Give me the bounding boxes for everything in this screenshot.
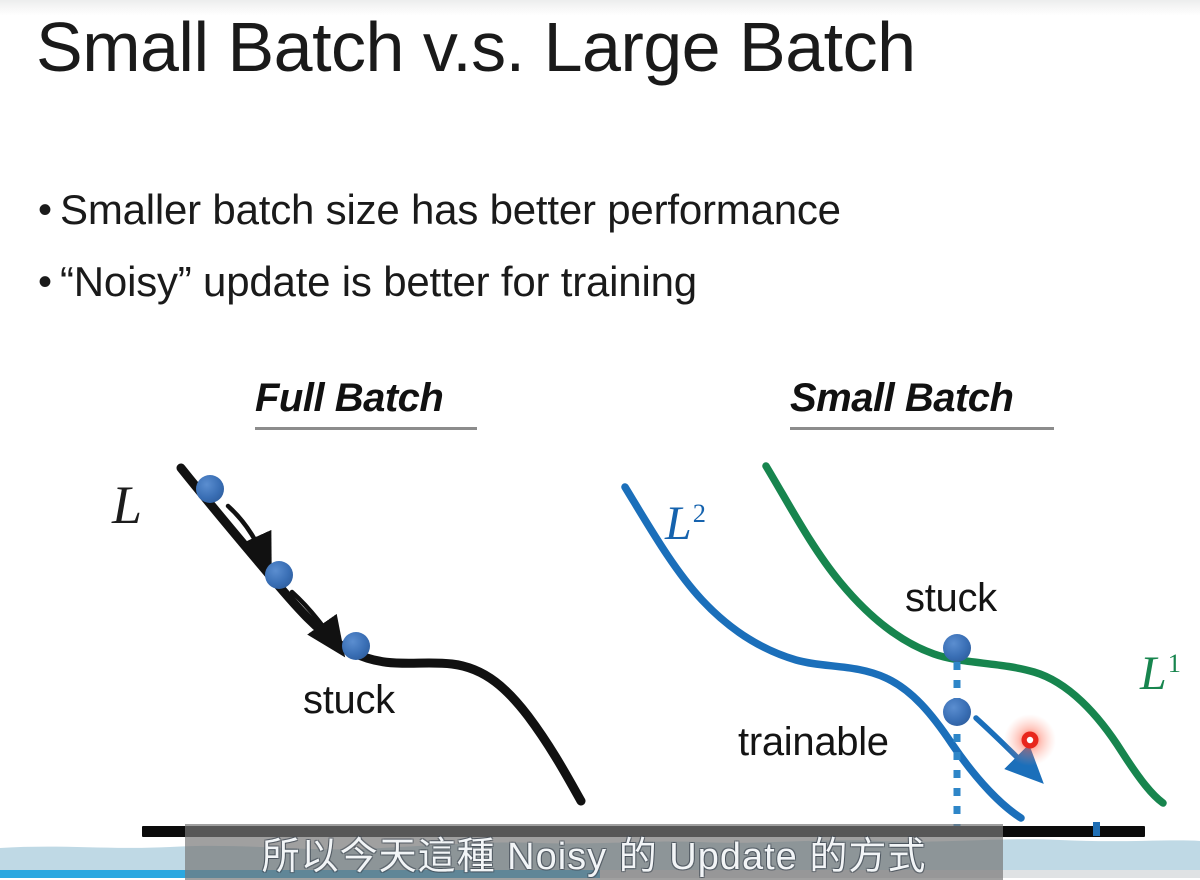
curve-label-L2-base: L [665,497,692,550]
curve-label-L2: L2 [665,500,706,548]
annotation-trainable: trainable [738,722,889,762]
video-frame: Small Batch v.s. Large Batch • Smaller b… [0,0,1200,880]
curve-label-L1: L1 [1140,650,1181,698]
curve-label-L-text: L [112,475,142,535]
true-minimum-marker [1004,714,1056,766]
parameter-ball-stuck [943,634,971,662]
playhead-cursor-icon[interactable] [1093,822,1100,836]
curve-label-L1-base: L [1140,647,1167,700]
full-batch-panel-graphics [181,468,581,801]
curve-label-L2-superscript: 2 [693,498,706,528]
curve-label-L: L [112,478,142,532]
subtitle-caption: 所以今天這種 Noisy 的 Update 的方式 [185,824,1003,880]
parameter-ball-trainable [943,698,971,726]
annotation-stuck-full-batch: stuck [303,680,395,720]
gradient-step-arrow-2 [292,592,340,650]
curve-label-L1-superscript: 1 [1168,648,1181,678]
parameter-ball [265,561,293,589]
loss-landscape-diagram [0,0,1200,880]
parameter-ball [342,632,370,660]
parameter-ball [196,475,224,503]
annotation-stuck-small-batch: stuck [905,578,997,618]
